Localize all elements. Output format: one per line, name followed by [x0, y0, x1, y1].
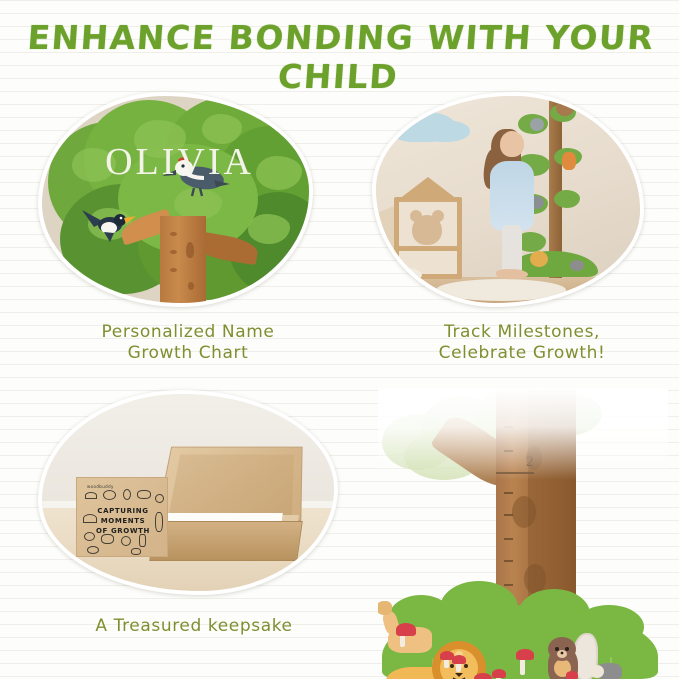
panel-ruler-closeup: 2 [378, 388, 668, 679]
plush-floor-toy [378, 267, 422, 283]
child-dress [490, 161, 534, 231]
squirrel-face-features [548, 637, 576, 661]
caption-track-milestones: Track Milestones, Celebrate Growth! [362, 322, 679, 364]
caption-treasured-keepsake: A Treasured keepsake [34, 616, 354, 637]
toucan-bird-icon [76, 200, 136, 246]
caption-line-2: Celebrate Growth! [362, 343, 679, 364]
hedgehog-face [590, 665, 604, 678]
decal-leaf [554, 190, 580, 208]
doodle-cloud [131, 548, 141, 555]
page-title: ENHANCE BONDING WITH YOUR CHILD [0, 18, 679, 96]
package-text-line-1: CAPTURING [77, 506, 169, 516]
caption-line-1: Personalized Name [28, 322, 348, 343]
personalized-name-text: OLIVIA [42, 140, 313, 184]
doodle-star [155, 494, 164, 503]
package-text-line-3: OF GROWTH [77, 526, 169, 536]
caption-line-1: A Treasured keepsake [34, 616, 354, 637]
bark-knot [512, 496, 536, 528]
tree-trunk [160, 216, 206, 307]
doodle-rainbow [85, 492, 97, 499]
caption-line-2: Growth Chart [28, 343, 348, 364]
doodle-balloon [123, 489, 131, 500]
ruler-tick [504, 538, 513, 540]
package-text-line-2: MOMENTS [77, 516, 169, 526]
decal-hedgehog [570, 260, 584, 271]
mailer-box-tray [149, 521, 303, 561]
decal-monkey [556, 100, 574, 116]
shelf-divider [399, 246, 457, 251]
doodle-dino [137, 490, 151, 499]
child-feet [496, 269, 528, 279]
panel-treasured-keepsake: woodbuddy CAPTURING MOMENTS OF GROWTH [38, 390, 338, 595]
cloud-wall-decor [398, 112, 456, 142]
mailer-lid-inner [169, 455, 294, 516]
panel-track-milestones [372, 92, 644, 307]
package-headline: CAPTURING MOMENTS OF GROWTH [77, 506, 169, 536]
floor-rug [436, 279, 566, 301]
panel-personalized-name-growth-chart: OLIVIA [38, 92, 313, 307]
teddy-bear-toy [412, 215, 442, 245]
ruler-tick [504, 492, 513, 494]
ruler-tick [504, 514, 513, 516]
doodle-animal [103, 490, 116, 500]
child-head [500, 131, 524, 157]
child-photo-subject [486, 131, 538, 281]
squirrel-head [548, 637, 576, 661]
doodle-flower [121, 536, 131, 546]
mailer-box-lid [156, 447, 303, 521]
child-legs [502, 225, 522, 273]
doodle-fish [87, 546, 99, 554]
brand-logo-text: woodbuddy [87, 484, 114, 489]
ruler-tick [504, 584, 513, 586]
deer-head [378, 601, 392, 615]
page-background: ENHANCE BONDING WITH YOUR CHILD [0, 0, 679, 679]
caption-personalized-name: Personalized Name Growth Chart [28, 322, 348, 364]
decal-koala [530, 118, 544, 131]
ruler-tick [504, 560, 513, 562]
caption-line-1: Track Milestones, [362, 322, 679, 343]
printed-sleeve: woodbuddy CAPTURING MOMENTS OF GROWTH [76, 477, 168, 557]
top-fade-overlay [378, 388, 668, 480]
decal-fox [562, 152, 576, 170]
